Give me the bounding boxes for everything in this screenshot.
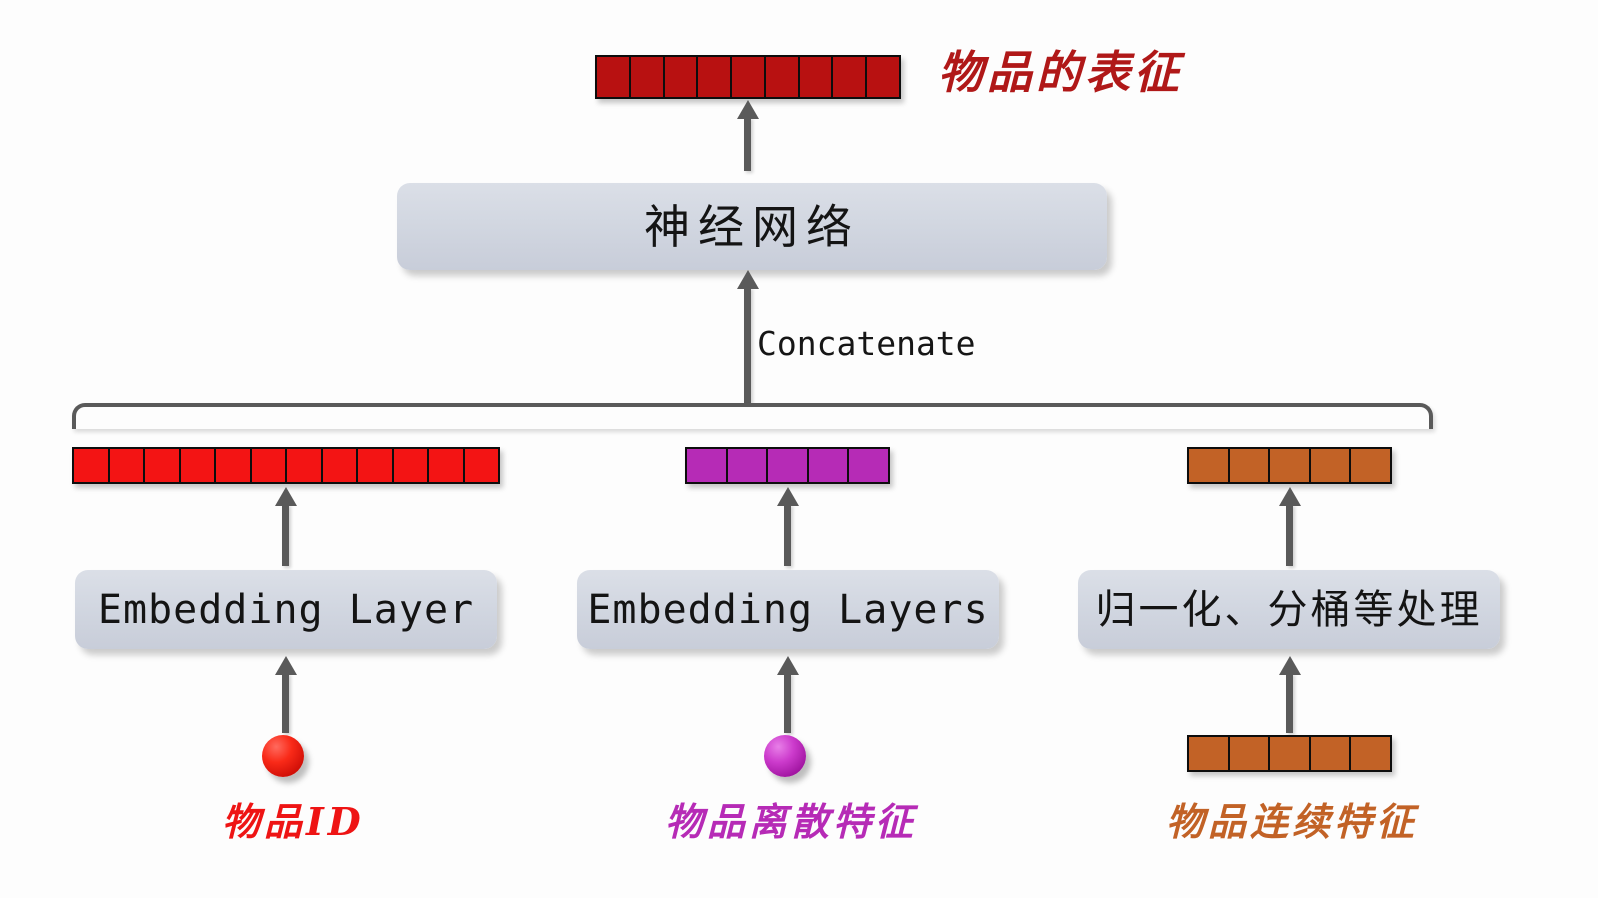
vector-cell bbox=[110, 449, 146, 482]
vector-cell bbox=[252, 449, 288, 482]
vector-cell bbox=[145, 449, 181, 482]
arrow-b3-box-to-vector bbox=[1286, 504, 1293, 566]
item-discrete-embedding-box-label: Embedding Layers bbox=[587, 590, 988, 630]
vector-cell bbox=[732, 57, 766, 97]
concatenate-label: Concatenate bbox=[757, 327, 976, 360]
item-discrete-label: 物品离散特征 bbox=[665, 803, 917, 841]
vector-cell bbox=[287, 449, 323, 482]
item-continuous-process-box: 归一化、分桶等处理 bbox=[1078, 570, 1500, 649]
vector-cell bbox=[597, 57, 631, 97]
arrow-b2-input-to-box bbox=[784, 673, 791, 733]
item-representation-label: 物品的表征 bbox=[938, 50, 1183, 95]
diagram-canvas: 物品的表征 神经网络 Concatenate Embedding Layer 物… bbox=[0, 0, 1598, 898]
item-continuous-process-box-label: 归一化、分桶等处理 bbox=[1096, 590, 1483, 630]
arrow-b1-input-to-box bbox=[282, 673, 289, 733]
item-id-sphere bbox=[262, 735, 304, 777]
vector-cell bbox=[429, 449, 465, 482]
vector-cell bbox=[181, 449, 217, 482]
vector-cell bbox=[1230, 449, 1271, 482]
item-continuous-input-vector bbox=[1187, 735, 1392, 772]
concatenate-bracket bbox=[72, 403, 1433, 429]
vector-cell bbox=[465, 449, 499, 482]
vector-cell bbox=[809, 449, 850, 482]
item-discrete-embedding-box: Embedding Layers bbox=[577, 570, 999, 649]
vector-cell bbox=[728, 449, 769, 482]
neural-network-label: 神经网络 bbox=[644, 204, 860, 250]
vector-cell bbox=[323, 449, 359, 482]
item-representation-vector bbox=[595, 55, 901, 99]
vector-cell bbox=[833, 57, 867, 97]
item-id-embedding-box-label: Embedding Layer bbox=[98, 590, 474, 630]
vector-cell bbox=[1351, 737, 1390, 770]
vector-cell bbox=[358, 449, 394, 482]
item-continuous-processed-vector bbox=[1187, 447, 1392, 484]
vector-cell bbox=[698, 57, 732, 97]
vector-cell bbox=[216, 449, 252, 482]
vector-cell bbox=[1270, 737, 1311, 770]
vector-cell bbox=[800, 57, 834, 97]
neural-network-box: 神经网络 bbox=[397, 183, 1107, 270]
vector-cell bbox=[1189, 737, 1230, 770]
vector-cell bbox=[766, 57, 800, 97]
vector-cell bbox=[665, 57, 699, 97]
vector-cell bbox=[768, 449, 809, 482]
arrow-concat-to-nn bbox=[744, 287, 751, 403]
arrow-b3-input-to-box bbox=[1286, 673, 1293, 733]
vector-cell bbox=[687, 449, 728, 482]
vector-cell bbox=[1311, 737, 1352, 770]
arrow-b2-box-to-vector bbox=[784, 504, 791, 566]
vector-cell bbox=[631, 57, 665, 97]
arrow-b1-box-to-vector bbox=[282, 504, 289, 566]
item-id-embedding-vector bbox=[72, 447, 500, 484]
item-discrete-sphere bbox=[764, 735, 806, 777]
arrow-nn-to-output bbox=[744, 117, 751, 171]
vector-cell bbox=[1270, 449, 1311, 482]
vector-cell bbox=[1311, 449, 1352, 482]
vector-cell bbox=[74, 449, 110, 482]
vector-cell bbox=[1189, 449, 1230, 482]
vector-cell bbox=[1351, 449, 1390, 482]
item-continuous-label: 物品连续特征 bbox=[1166, 803, 1418, 841]
vector-cell bbox=[867, 57, 899, 97]
item-id-label: 物品ID bbox=[222, 803, 365, 841]
item-discrete-embedding-vector bbox=[685, 447, 890, 484]
vector-cell bbox=[849, 449, 888, 482]
vector-cell bbox=[394, 449, 430, 482]
vector-cell bbox=[1230, 737, 1271, 770]
item-id-embedding-box: Embedding Layer bbox=[75, 570, 497, 649]
